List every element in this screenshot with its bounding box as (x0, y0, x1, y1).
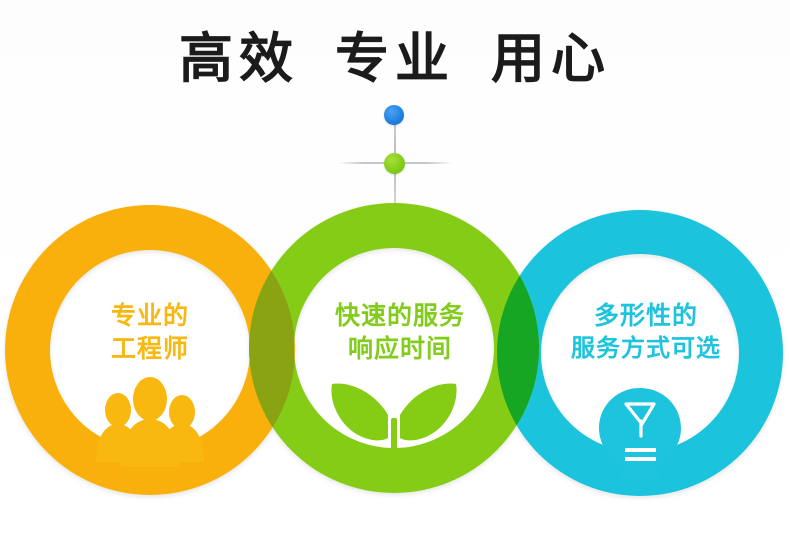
circle-label-cyan-line-1: 多形性的 (530, 300, 762, 333)
venn-diagram (0, 0, 790, 557)
poster-canvas: 高效专业用心 (0, 0, 790, 557)
circle-label-green: 快速的服务 响应时间 (290, 300, 510, 365)
circle-label-orange-line-2: 工程师 (40, 333, 260, 366)
circle-label-green-line-2: 响应时间 (290, 333, 510, 366)
circle-label-cyan: 多形性的 服务方式可选 (530, 300, 762, 364)
circle-label-orange: 专业的 工程师 (40, 300, 260, 365)
circle-label-green-line-1: 快速的服务 (290, 300, 510, 333)
circle-label-orange-line-1: 专业的 (40, 300, 260, 333)
circle-label-cyan-line-2: 服务方式可选 (530, 333, 762, 364)
venn-rings-svg (0, 0, 790, 557)
